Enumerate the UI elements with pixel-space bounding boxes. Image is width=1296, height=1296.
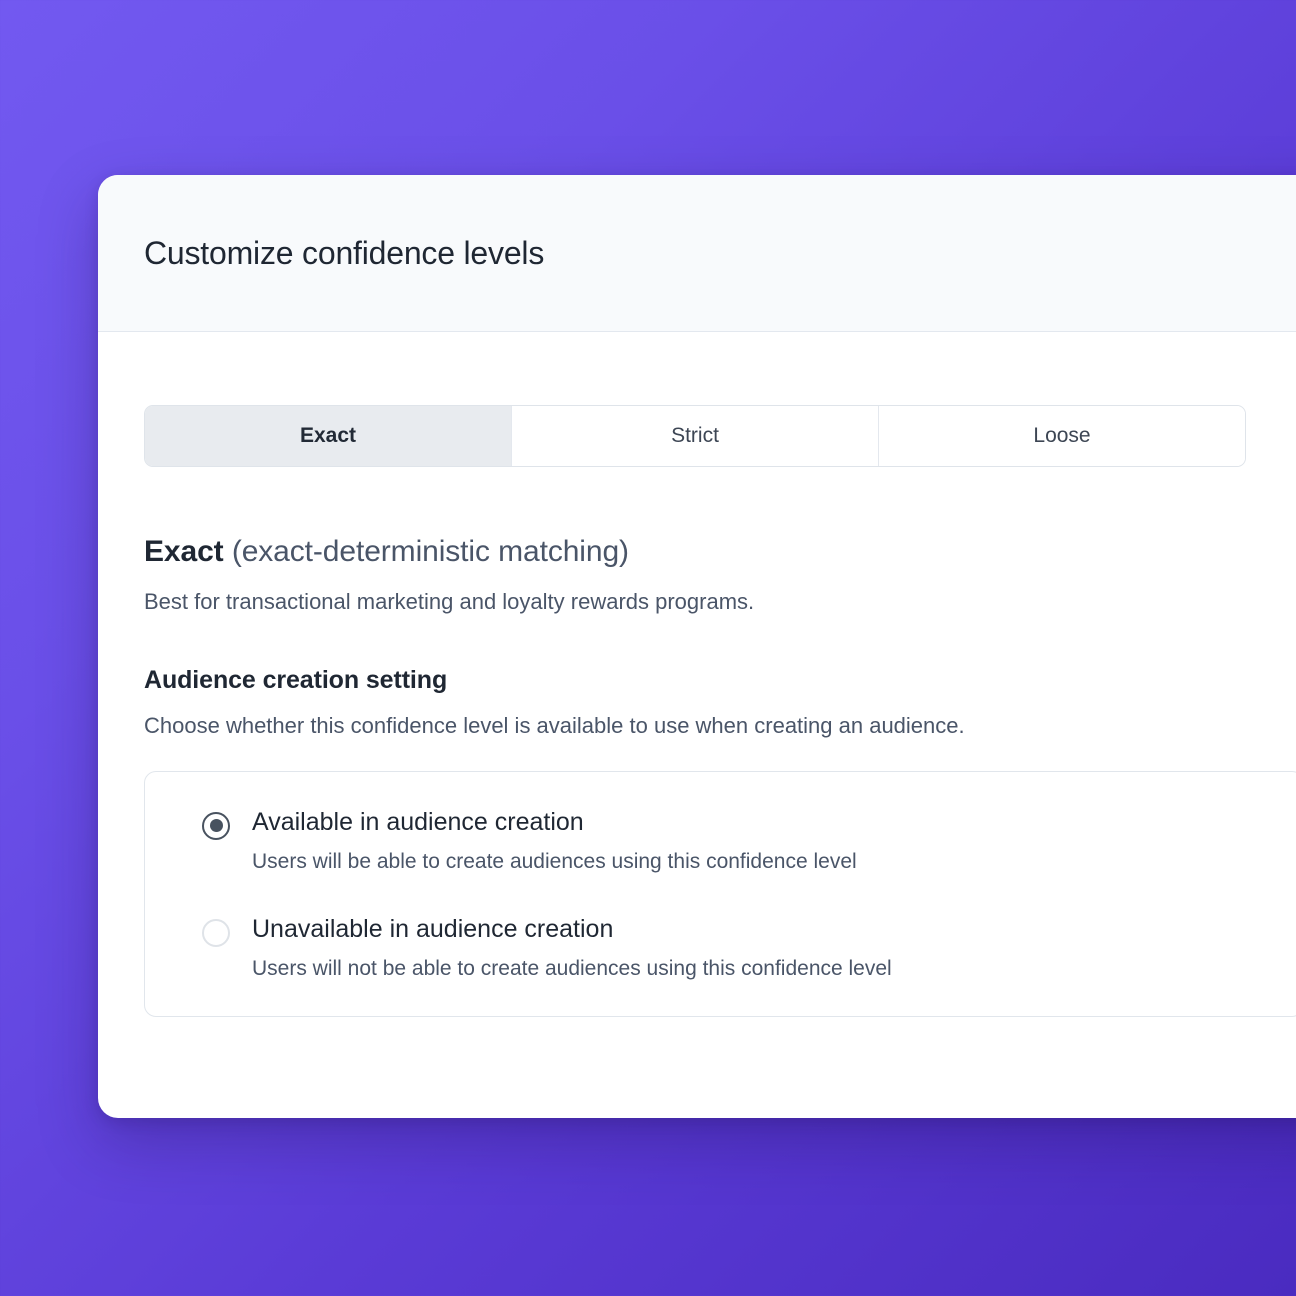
level-name: Exact bbox=[144, 535, 224, 568]
radio-option-available-text: Available in audience creation Users wil… bbox=[252, 807, 857, 875]
modal-header: Customize confidence levels bbox=[98, 175, 1296, 332]
confidence-levels-modal: Customize confidence levels Exact Strict… bbox=[98, 175, 1296, 1118]
radio-option-available-sublabel: Users will be able to create audiences u… bbox=[252, 848, 857, 875]
level-qualifier: (exact-deterministic matching) bbox=[232, 535, 629, 568]
audience-availability-radio-group: Available in audience creation Users wil… bbox=[144, 771, 1296, 1018]
confidence-level-tabs: Exact Strict Loose bbox=[144, 405, 1246, 467]
radio-option-unavailable-text: Unavailable in audience creation Users w… bbox=[252, 914, 892, 982]
radio-unselected-icon[interactable] bbox=[202, 919, 230, 947]
page-title: Customize confidence levels bbox=[144, 234, 544, 272]
level-heading: Exact (exact-deterministic matching) bbox=[144, 533, 1296, 571]
radio-option-unavailable-sublabel: Users will not be able to create audienc… bbox=[252, 955, 892, 982]
tab-loose[interactable]: Loose bbox=[879, 406, 1245, 466]
level-description: Best for transactional marketing and loy… bbox=[144, 587, 1296, 617]
audience-creation-setting: Audience creation setting Choose whether… bbox=[144, 666, 1296, 1017]
radio-option-available-label: Available in audience creation bbox=[252, 808, 584, 836]
radio-option-unavailable[interactable]: Unavailable in audience creation Users w… bbox=[145, 914, 1296, 982]
setting-title: Audience creation setting bbox=[144, 666, 1296, 695]
radio-option-available[interactable]: Available in audience creation Users wil… bbox=[145, 807, 1296, 875]
radio-selected-icon[interactable] bbox=[202, 812, 230, 840]
level-summary: Exact (exact-deterministic matching) Bes… bbox=[144, 533, 1296, 616]
modal-body: Exact Strict Loose Exact (exact-determin… bbox=[98, 332, 1296, 1017]
tab-strict[interactable]: Strict bbox=[512, 406, 879, 466]
setting-description: Choose whether this confidence level is … bbox=[144, 711, 1296, 741]
tab-exact[interactable]: Exact bbox=[145, 406, 512, 466]
radio-option-unavailable-label: Unavailable in audience creation bbox=[252, 915, 613, 943]
